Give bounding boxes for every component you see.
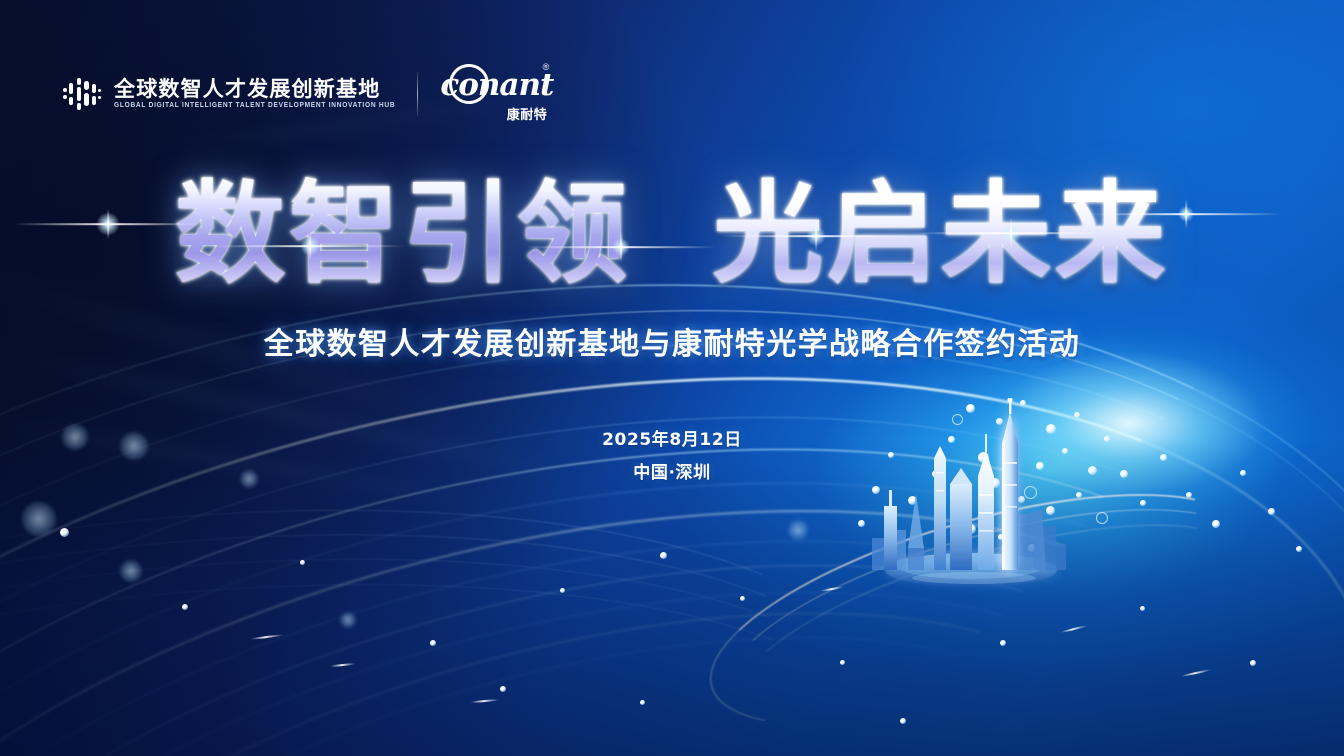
left-brand-name-en: GLOBAL DIGITAL INTELLIGENT TALENT DEVELO… xyxy=(114,103,395,110)
conant-name-cn: 康耐特 xyxy=(507,108,548,121)
event-details: 2025年8月12日 中国·深圳 xyxy=(0,432,1344,482)
logo-divider xyxy=(417,72,418,116)
dot-matrix-mark-icon xyxy=(62,74,102,114)
conant-brand-lockup: conant ® 康耐特 xyxy=(440,68,548,120)
registered-trademark-icon: ® xyxy=(543,63,550,72)
left-brand-lockup: 全球数智人才发展创新基地 GLOBAL DIGITAL INTELLIGENT … xyxy=(62,74,395,114)
event-subtitle: 全球数智人才发展创新基地与康耐特光学战略合作签约活动 xyxy=(0,327,1344,363)
title-part-1: 数智引领 xyxy=(175,176,631,293)
conant-wordmark: conant xyxy=(440,70,553,101)
event-date: 2025年8月12日 xyxy=(0,432,1344,449)
title-part-2: 光启未来 xyxy=(713,176,1169,293)
header-logos: 全球数智人才发展创新基地 GLOBAL DIGITAL INTELLIGENT … xyxy=(62,68,548,120)
left-brand-name-cn: 全球数智人才发展创新基地 xyxy=(114,79,395,100)
poster-canvas: 全球数智人才发展创新基地 GLOBAL DIGITAL INTELLIGENT … xyxy=(0,0,1344,756)
event-location: 中国·深圳 xyxy=(0,465,1344,482)
main-title: 数智引领 光启未来 xyxy=(0,176,1344,293)
city-skyline-graphic xyxy=(846,398,1096,598)
